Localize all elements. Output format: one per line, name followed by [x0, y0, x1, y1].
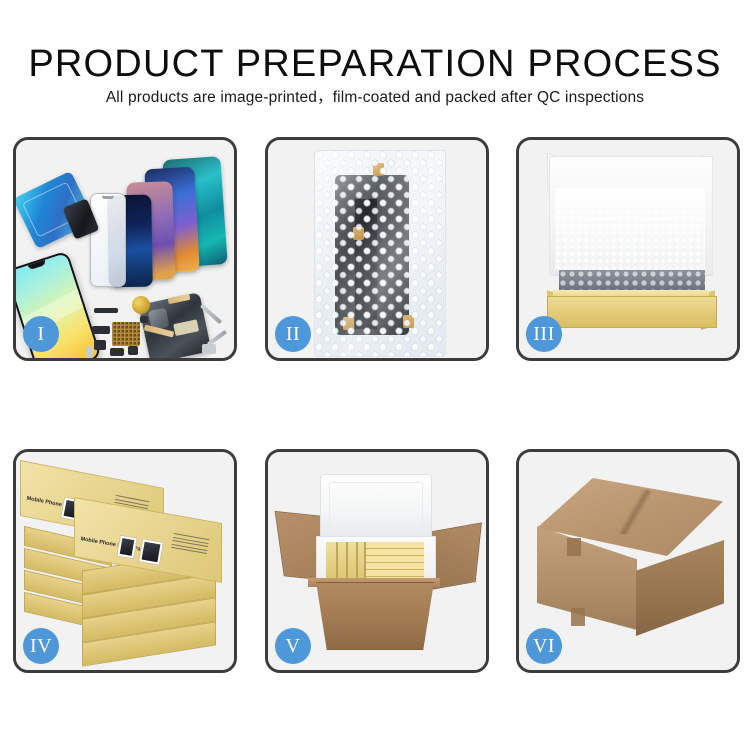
panel-3-image: III — [519, 140, 737, 358]
plastic-sheen-overlay — [315, 151, 445, 356]
panel-1-image: I — [16, 140, 234, 358]
badge-step-3: III — [526, 316, 562, 352]
box-second-window-1 — [116, 535, 138, 560]
part-bracket-1 — [92, 326, 110, 334]
bubble-wrap-bag — [314, 150, 446, 357]
part-gold-coil — [132, 296, 150, 314]
panel-5-image: V — [268, 452, 486, 670]
part-camera-ring — [128, 346, 138, 355]
page-subtitle: All products are image-printed，film-coat… — [0, 88, 750, 108]
badge-step-6: VI — [526, 628, 562, 664]
page-title: PRODUCT PREPARATION PROCESS — [0, 44, 750, 84]
panel-sealed-carton: VI — [516, 449, 740, 673]
foam-cooler-lid — [320, 474, 432, 542]
panel-4-image: Mobile Phone Spare Parts Mobile Phone Sp… — [16, 452, 234, 670]
page-header: PRODUCT PREPARATION PROCESS All products… — [0, 0, 750, 122]
badge-step-4: IV — [23, 628, 59, 664]
badge-step-5: V — [275, 628, 311, 664]
panel-6-image: VI — [519, 452, 737, 670]
shipping-carton-body — [308, 582, 442, 650]
part-speaker-mesh — [94, 308, 118, 313]
badge-step-2: II — [275, 316, 311, 352]
yellow-boxes-inside — [326, 542, 424, 578]
box-second: Mobile Phone Spare Parts — [74, 510, 220, 568]
kraft-tray-front — [547, 296, 717, 328]
tempered-glass-protector-icon — [90, 193, 126, 287]
part-ic-grid — [112, 322, 140, 346]
notch-cutout-icon — [102, 196, 114, 199]
panel-bubble-wrapped-part: II — [265, 137, 489, 361]
packing-tape-upper — [567, 538, 581, 556]
panel-carton-loading: V — [265, 449, 489, 673]
carton-right-face — [636, 540, 724, 636]
box-second-window-2 — [138, 538, 164, 565]
part-screw-plate — [140, 316, 148, 323]
process-panel-grid: I II — [13, 137, 737, 674]
panel-product-lineup: I — [13, 137, 237, 361]
panel-2-image: II — [268, 140, 486, 358]
part-button-strip — [86, 346, 93, 358]
badge-step-1: I — [23, 316, 59, 352]
foam-sheet — [555, 188, 705, 270]
part-sim-tray — [202, 344, 216, 354]
panel-inner-box-packing: III — [516, 137, 740, 361]
part-bracket-3 — [110, 348, 124, 356]
part-bracket-2 — [94, 340, 106, 350]
panel-boxed-stack: Mobile Phone Spare Parts Mobile Phone Sp… — [13, 449, 237, 673]
packing-tape-lower — [571, 608, 585, 626]
